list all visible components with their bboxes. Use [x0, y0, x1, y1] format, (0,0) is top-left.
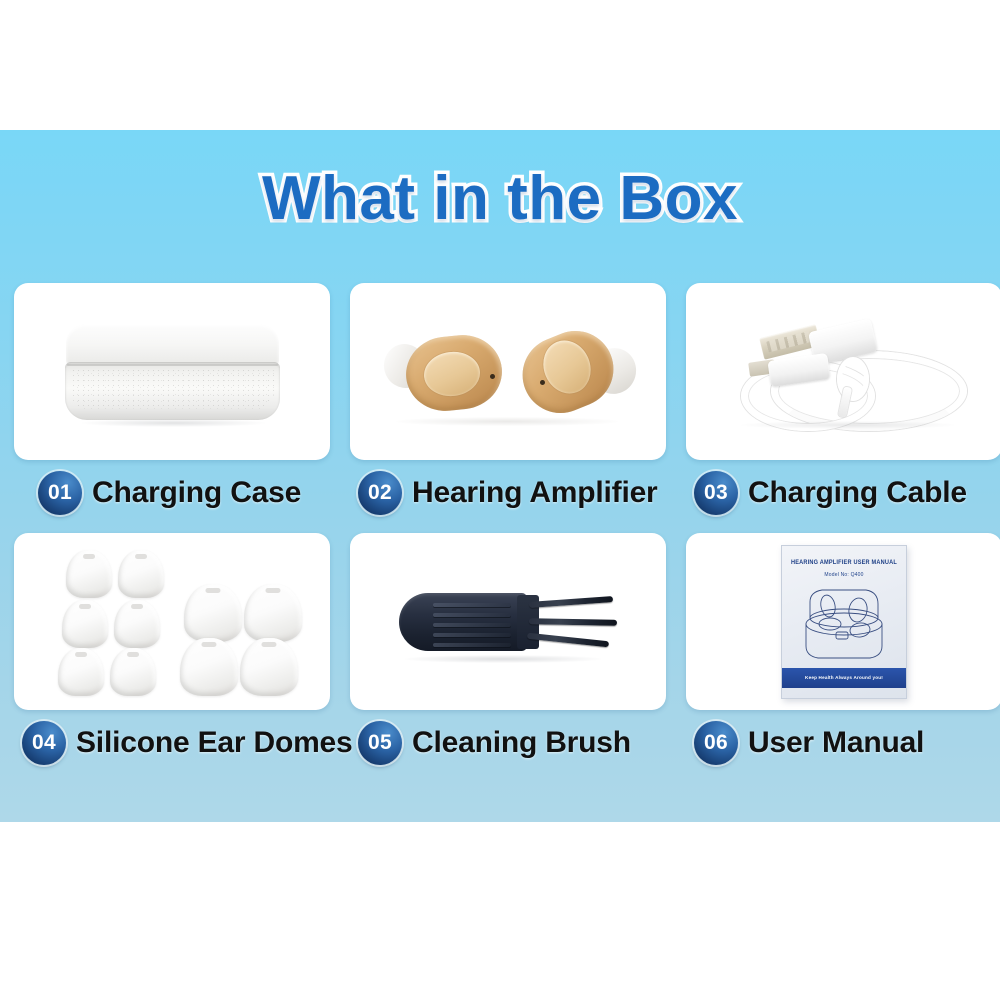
caption-cleaning-brush: 05 Cleaning Brush: [350, 721, 666, 765]
manual-cover-banner: Keep Health Always Around you!: [782, 668, 906, 688]
cleaning-brush-icon: [399, 585, 617, 659]
brush-rib-5: [433, 643, 511, 647]
brush-bristle-3: [527, 632, 609, 647]
ear-domes-illustration: [14, 533, 330, 710]
manual-cover-title: HEARING AMPLIFIER USER MANUAL: [782, 559, 906, 566]
item-cell-user-manual[interactable]: HEARING AMPLIFIER USER MANUAL Model No: …: [686, 533, 1000, 765]
brush-handle: [399, 593, 527, 651]
item-label-charging-case: Charging Case: [92, 476, 301, 510]
item-label-user-manual: User Manual: [748, 726, 924, 760]
page-title: What in the Box: [262, 163, 738, 234]
product-card-charging-case[interactable]: [14, 283, 330, 460]
product-card-charging-cable[interactable]: [686, 283, 1000, 460]
item-label-charging-cable: Charging Cable: [748, 476, 967, 510]
caption-user-manual: 06 User Manual: [686, 721, 1000, 765]
badge-number-01: 01: [38, 471, 82, 515]
brush-rib-4: [433, 633, 511, 637]
item-label-silicone-ear-domes: Silicone Ear Domes: [76, 726, 353, 760]
ear-dome-small-4: [114, 600, 160, 648]
brush-rib-3: [433, 623, 511, 627]
user-manual-illustration: HEARING AMPLIFIER USER MANUAL Model No: …: [686, 533, 1000, 710]
item-label-hearing-amplifier: Hearing Amplifier: [412, 476, 658, 510]
charging-cable-illustration: [686, 283, 1000, 460]
item-label-cleaning-brush: Cleaning Brush: [412, 726, 631, 760]
badge-number-06: 06: [694, 721, 738, 765]
caption-hearing-amplifier: 02 Hearing Amplifier: [350, 471, 666, 515]
product-card-hearing-amplifier[interactable]: [350, 283, 666, 460]
badge-number-05: 05: [358, 721, 402, 765]
case-shadow: [81, 419, 266, 427]
hearing-amplifier-illustration: [350, 283, 666, 460]
item-cell-charging-case[interactable]: 01 Charging Case: [14, 283, 330, 515]
charging-case-illustration: [14, 283, 330, 460]
badge-number-04: 04: [22, 721, 66, 765]
cleaning-brush-illustration: [350, 533, 666, 710]
earbud-left-mic: [490, 374, 495, 379]
ear-dome-large-4: [240, 638, 298, 696]
case-texture: [71, 368, 274, 410]
item-cell-cleaning-brush[interactable]: 05 Cleaning Brush: [350, 533, 666, 765]
earbud-right-mic: [540, 380, 545, 385]
cable-shadow: [741, 421, 955, 429]
user-manual-booklet-icon: HEARING AMPLIFIER USER MANUAL Model No: …: [781, 545, 907, 699]
earbud-left: [384, 330, 509, 416]
items-row-top: 01 Charging Case: [14, 283, 986, 515]
product-card-user-manual[interactable]: HEARING AMPLIFIER USER MANUAL Model No: …: [686, 533, 1000, 710]
product-card-silicone-ear-domes[interactable]: [14, 533, 330, 710]
manual-banner-text: Keep Health Always Around you!: [805, 675, 883, 680]
case-lid: [66, 324, 279, 366]
manual-cover-model: Model No: Q400: [782, 572, 906, 578]
ear-dome-small-3: [62, 600, 108, 648]
page-title-wrap: What in the Box: [0, 163, 1000, 234]
brush-shadow: [405, 655, 601, 663]
earbuds-shadow: [396, 417, 618, 426]
ear-dome-small-1: [66, 550, 112, 598]
ear-dome-small-5: [58, 648, 104, 696]
case-body: [65, 362, 280, 420]
ear-dome-large-3: [180, 638, 238, 696]
item-cell-hearing-amplifier[interactable]: 02 Hearing Amplifier: [350, 283, 666, 515]
ear-dome-large-2: [244, 584, 302, 642]
caption-charging-cable: 03 Charging Cable: [686, 471, 1000, 515]
item-cell-silicone-ear-domes[interactable]: 04 Silicone Ear Domes: [14, 533, 330, 765]
badge-number-02: 02: [358, 471, 402, 515]
case-seam: [67, 364, 278, 366]
earbuds-icon: [378, 322, 638, 422]
product-card-cleaning-brush[interactable]: [350, 533, 666, 710]
ear-dome-small-6: [110, 648, 156, 696]
brush-bristle-2: [529, 618, 617, 626]
manual-cover-line-art: [792, 582, 896, 666]
brush-bristle-1: [529, 596, 613, 608]
badge-number-03: 03: [694, 471, 738, 515]
ear-dome-large-1: [184, 584, 242, 642]
ear-domes-icon: [38, 546, 306, 698]
earbud-right: [514, 328, 636, 416]
brush-rib-2: [433, 613, 511, 617]
ear-dome-small-2: [118, 550, 164, 598]
usb-cable-icon: [719, 317, 969, 427]
charging-case-icon: [65, 324, 280, 420]
brush-rib-1: [433, 603, 511, 607]
infographic-page: What in the Box 01 Cha: [0, 0, 1000, 1000]
item-cell-charging-cable[interactable]: 03 Charging Cable: [686, 283, 1000, 515]
caption-charging-case: 01 Charging Case: [14, 471, 330, 515]
caption-silicone-ear-domes: 04 Silicone Ear Domes: [14, 721, 330, 765]
items-row-bottom: 04 Silicone Ear Domes: [14, 533, 986, 765]
